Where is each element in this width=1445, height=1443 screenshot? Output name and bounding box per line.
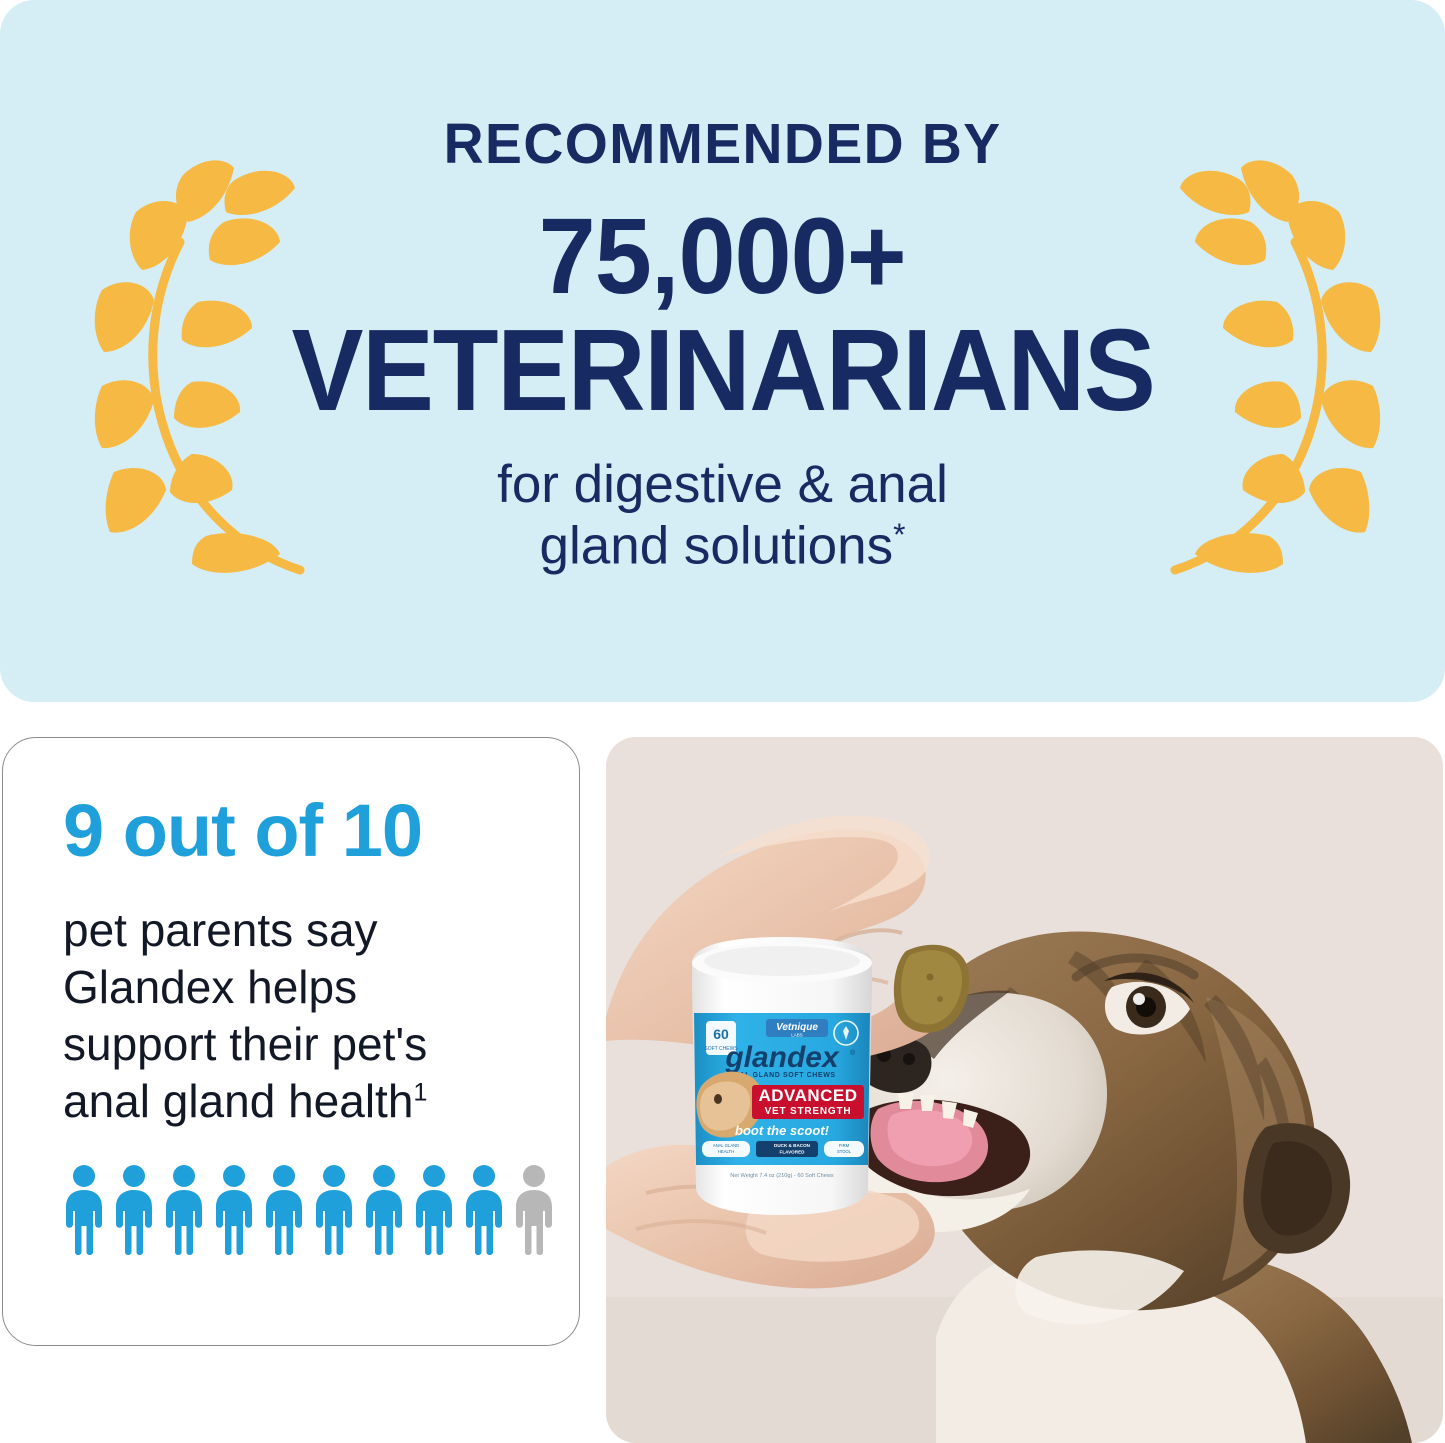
banner-subhead-line1: for digestive & anal — [497, 455, 948, 514]
bottom-section: 9 out of 10 pet parents say Glandex help… — [0, 737, 1445, 1443]
svg-text:HEALTH: HEALTH — [718, 1149, 734, 1154]
product-lifestyle-photo: 60 SOFT CHEWS Vetnique LABS — [606, 737, 1443, 1443]
banner-veterinarian-count: 75,000+ — [539, 199, 906, 313]
stat-body-line2: Glandex helps — [63, 961, 357, 1013]
person-figure-icon — [463, 1164, 505, 1261]
person-figure-icon — [313, 1164, 355, 1261]
svg-text:ANAL GLAND: ANAL GLAND — [713, 1143, 739, 1148]
svg-text:FLAVORED: FLAVORED — [780, 1150, 806, 1155]
banner-kicker: RECOMMENDED BY — [444, 116, 1002, 173]
banner-subhead-line2: gland solutions — [540, 517, 894, 576]
stat-headline: 9 out of 10 — [63, 794, 529, 868]
vetnique-brand-mark: Vetnique LABS — [766, 1019, 828, 1038]
svg-text:DUCK & BACON: DUCK & BACON — [774, 1143, 811, 1148]
svg-text:ADVANCED: ADVANCED — [758, 1086, 857, 1105]
banner-subhead-footnote: * — [893, 516, 905, 552]
svg-text:VET STRENGTH: VET STRENGTH — [765, 1106, 852, 1117]
stat-body-text: pet parents say Glandex helps support th… — [63, 902, 529, 1130]
stat-body-footnote: 1 — [413, 1079, 427, 1107]
svg-text:LABS: LABS — [791, 1033, 803, 1038]
laurel-branch-icon-right — [1135, 150, 1387, 585]
person-figure-icon — [363, 1164, 405, 1261]
svg-text:®: ® — [850, 1049, 856, 1057]
svg-text:60: 60 — [713, 1026, 729, 1042]
stat-body-line4: anal gland health — [63, 1075, 413, 1127]
person-figure-icon — [163, 1164, 205, 1261]
people-pictogram — [63, 1164, 529, 1261]
banner-audience-label: VETERINARIANS — [291, 314, 1154, 428]
stat-body-line3: support their pet's — [63, 1018, 427, 1070]
pet-parent-stat-card: 9 out of 10 pet parents say Glandex help… — [2, 737, 580, 1346]
person-figure-icon — [263, 1164, 305, 1261]
svg-text:glandex: glandex — [724, 1041, 840, 1074]
banner-text-block: RECOMMENDED BY 75,000+ VETERINARIANS for… — [313, 116, 1133, 578]
person-figure-icon — [413, 1164, 455, 1261]
svg-text:FIRM: FIRM — [839, 1143, 850, 1148]
svg-text:boot the scoot!: boot the scoot! — [735, 1123, 830, 1138]
person-figure-icon — [513, 1164, 555, 1261]
svg-text:STOOL: STOOL — [837, 1149, 852, 1154]
recommended-by-banner: RECOMMENDED BY 75,000+ VETERINARIANS for… — [0, 0, 1445, 702]
person-figure-icon — [213, 1164, 255, 1261]
product-marketing-image: RECOMMENDED BY 75,000+ VETERINARIANS for… — [0, 0, 1445, 1443]
advanced-vet-strength-banner: ADVANCED VET STRENGTH — [752, 1085, 864, 1119]
banner-subhead: for digestive & anal gland solutions* — [497, 455, 948, 578]
svg-text:Vetnique: Vetnique — [776, 1022, 818, 1033]
person-figure-icon — [113, 1164, 155, 1261]
glandex-product-jar: 60 SOFT CHEWS Vetnique LABS — [692, 937, 872, 1215]
person-figure-icon — [63, 1164, 105, 1261]
svg-text:Net Weight 7.4 oz (210g) - 60: Net Weight 7.4 oz (210g) - 60 Soft Chews — [730, 1173, 834, 1179]
stat-body-line1: pet parents say — [63, 904, 378, 956]
